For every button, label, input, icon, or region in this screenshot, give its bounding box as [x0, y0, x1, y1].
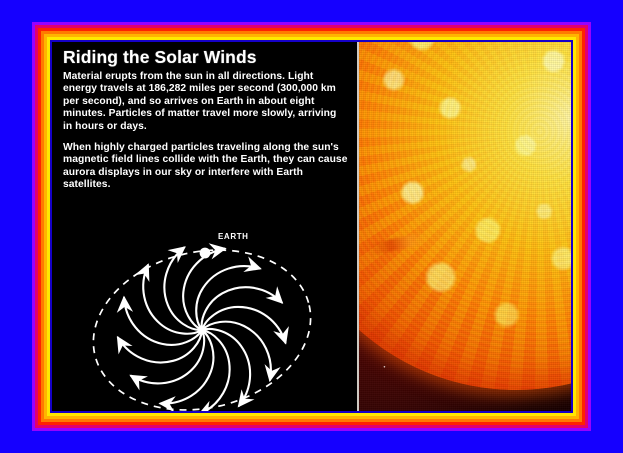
sun-disk: [359, 42, 571, 390]
content-panel: Riding the Solar Winds Material erupts f…: [52, 42, 571, 411]
earth-label: EARTH: [218, 232, 249, 241]
paragraph-2: When highly charged particles traveling …: [63, 142, 348, 192]
text-block: Riding the Solar Winds Material erupts f…: [63, 47, 348, 201]
info-panel: Riding the Solar Winds Material erupts f…: [52, 42, 357, 411]
sun-photo-panel: [359, 42, 571, 411]
page-title: Riding the Solar Winds: [63, 47, 348, 67]
sun-limb-glow: [359, 42, 571, 390]
sun-center-marker: [197, 325, 206, 334]
earth-marker: [200, 248, 211, 259]
poster-stage: Riding the Solar Winds Material erupts f…: [0, 0, 623, 453]
paragraph-1: Material erupts from the sun in all dire…: [63, 71, 348, 133]
spiral-svg: [52, 192, 357, 411]
solar-wind-spiral-diagram: EARTH: [52, 192, 357, 411]
